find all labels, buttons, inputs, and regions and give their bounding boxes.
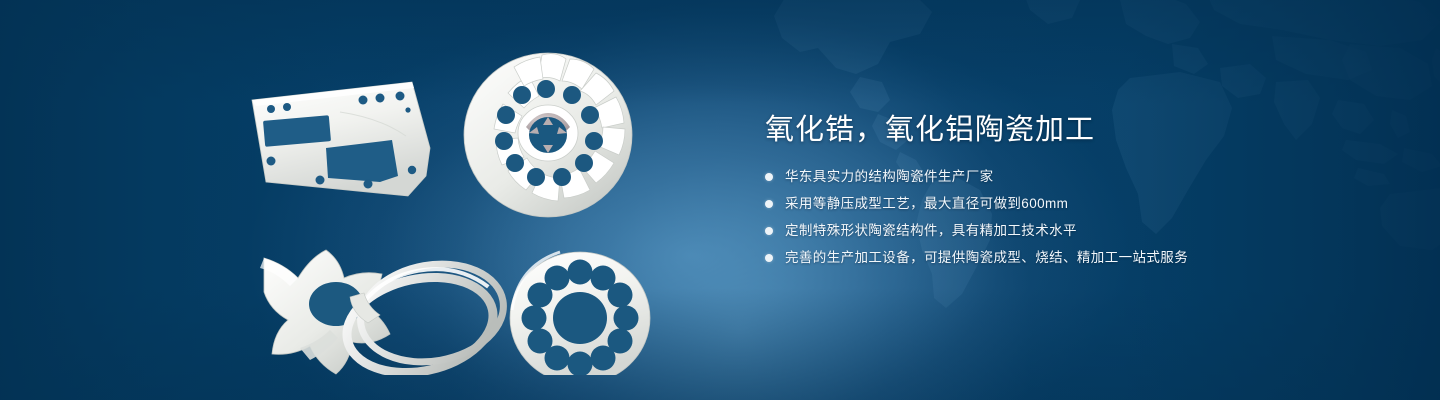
list-item: 完善的生产加工设备，可提供陶瓷成型、烧结、精加工一站式服务 [765, 247, 1405, 268]
page-title: 氧化锆，氧化铝陶瓷加工 [765, 110, 1405, 150]
list-item-label: 定制特殊形状陶瓷结构件，具有精加工技术水平 [785, 221, 1077, 240]
bullet-dot-icon [765, 227, 773, 235]
ceramic-base-plate [252, 82, 430, 196]
bullet-dot-icon [765, 254, 773, 262]
list-item-label: 华东具实力的结构陶瓷件生产厂家 [785, 167, 994, 186]
ceramic-rings [338, 253, 511, 375]
hero-banner: 氧化锆，氧化铝陶瓷加工 华东具实力的结构陶瓷件生产厂家 采用等静压成型工艺，最大… [0, 0, 1440, 400]
list-item: 采用等静压成型工艺，最大直径可做到600mm [765, 193, 1405, 214]
list-item: 华东具实力的结构陶瓷件生产厂家 [765, 166, 1405, 187]
list-item: 定制特殊形状陶瓷结构件，具有精加工技术水平 [765, 220, 1405, 241]
ceramic-products-image [230, 30, 710, 375]
ceramic-perforated-disc [510, 252, 650, 375]
feature-list: 华东具实力的结构陶瓷件生产厂家 采用等静压成型工艺，最大直径可做到600mm 定… [765, 166, 1405, 268]
list-item-label: 采用等静压成型工艺，最大直径可做到600mm [785, 194, 1068, 213]
bullet-dot-icon [765, 173, 773, 181]
list-item-label: 完善的生产加工设备，可提供陶瓷成型、烧结、精加工一站式服务 [785, 248, 1188, 267]
ceramic-impeller-rotor [464, 53, 632, 217]
banner-copy: 氧化锆，氧化铝陶瓷加工 华东具实力的结构陶瓷件生产厂家 采用等静压成型工艺，最大… [765, 110, 1405, 274]
bullet-dot-icon [765, 200, 773, 208]
